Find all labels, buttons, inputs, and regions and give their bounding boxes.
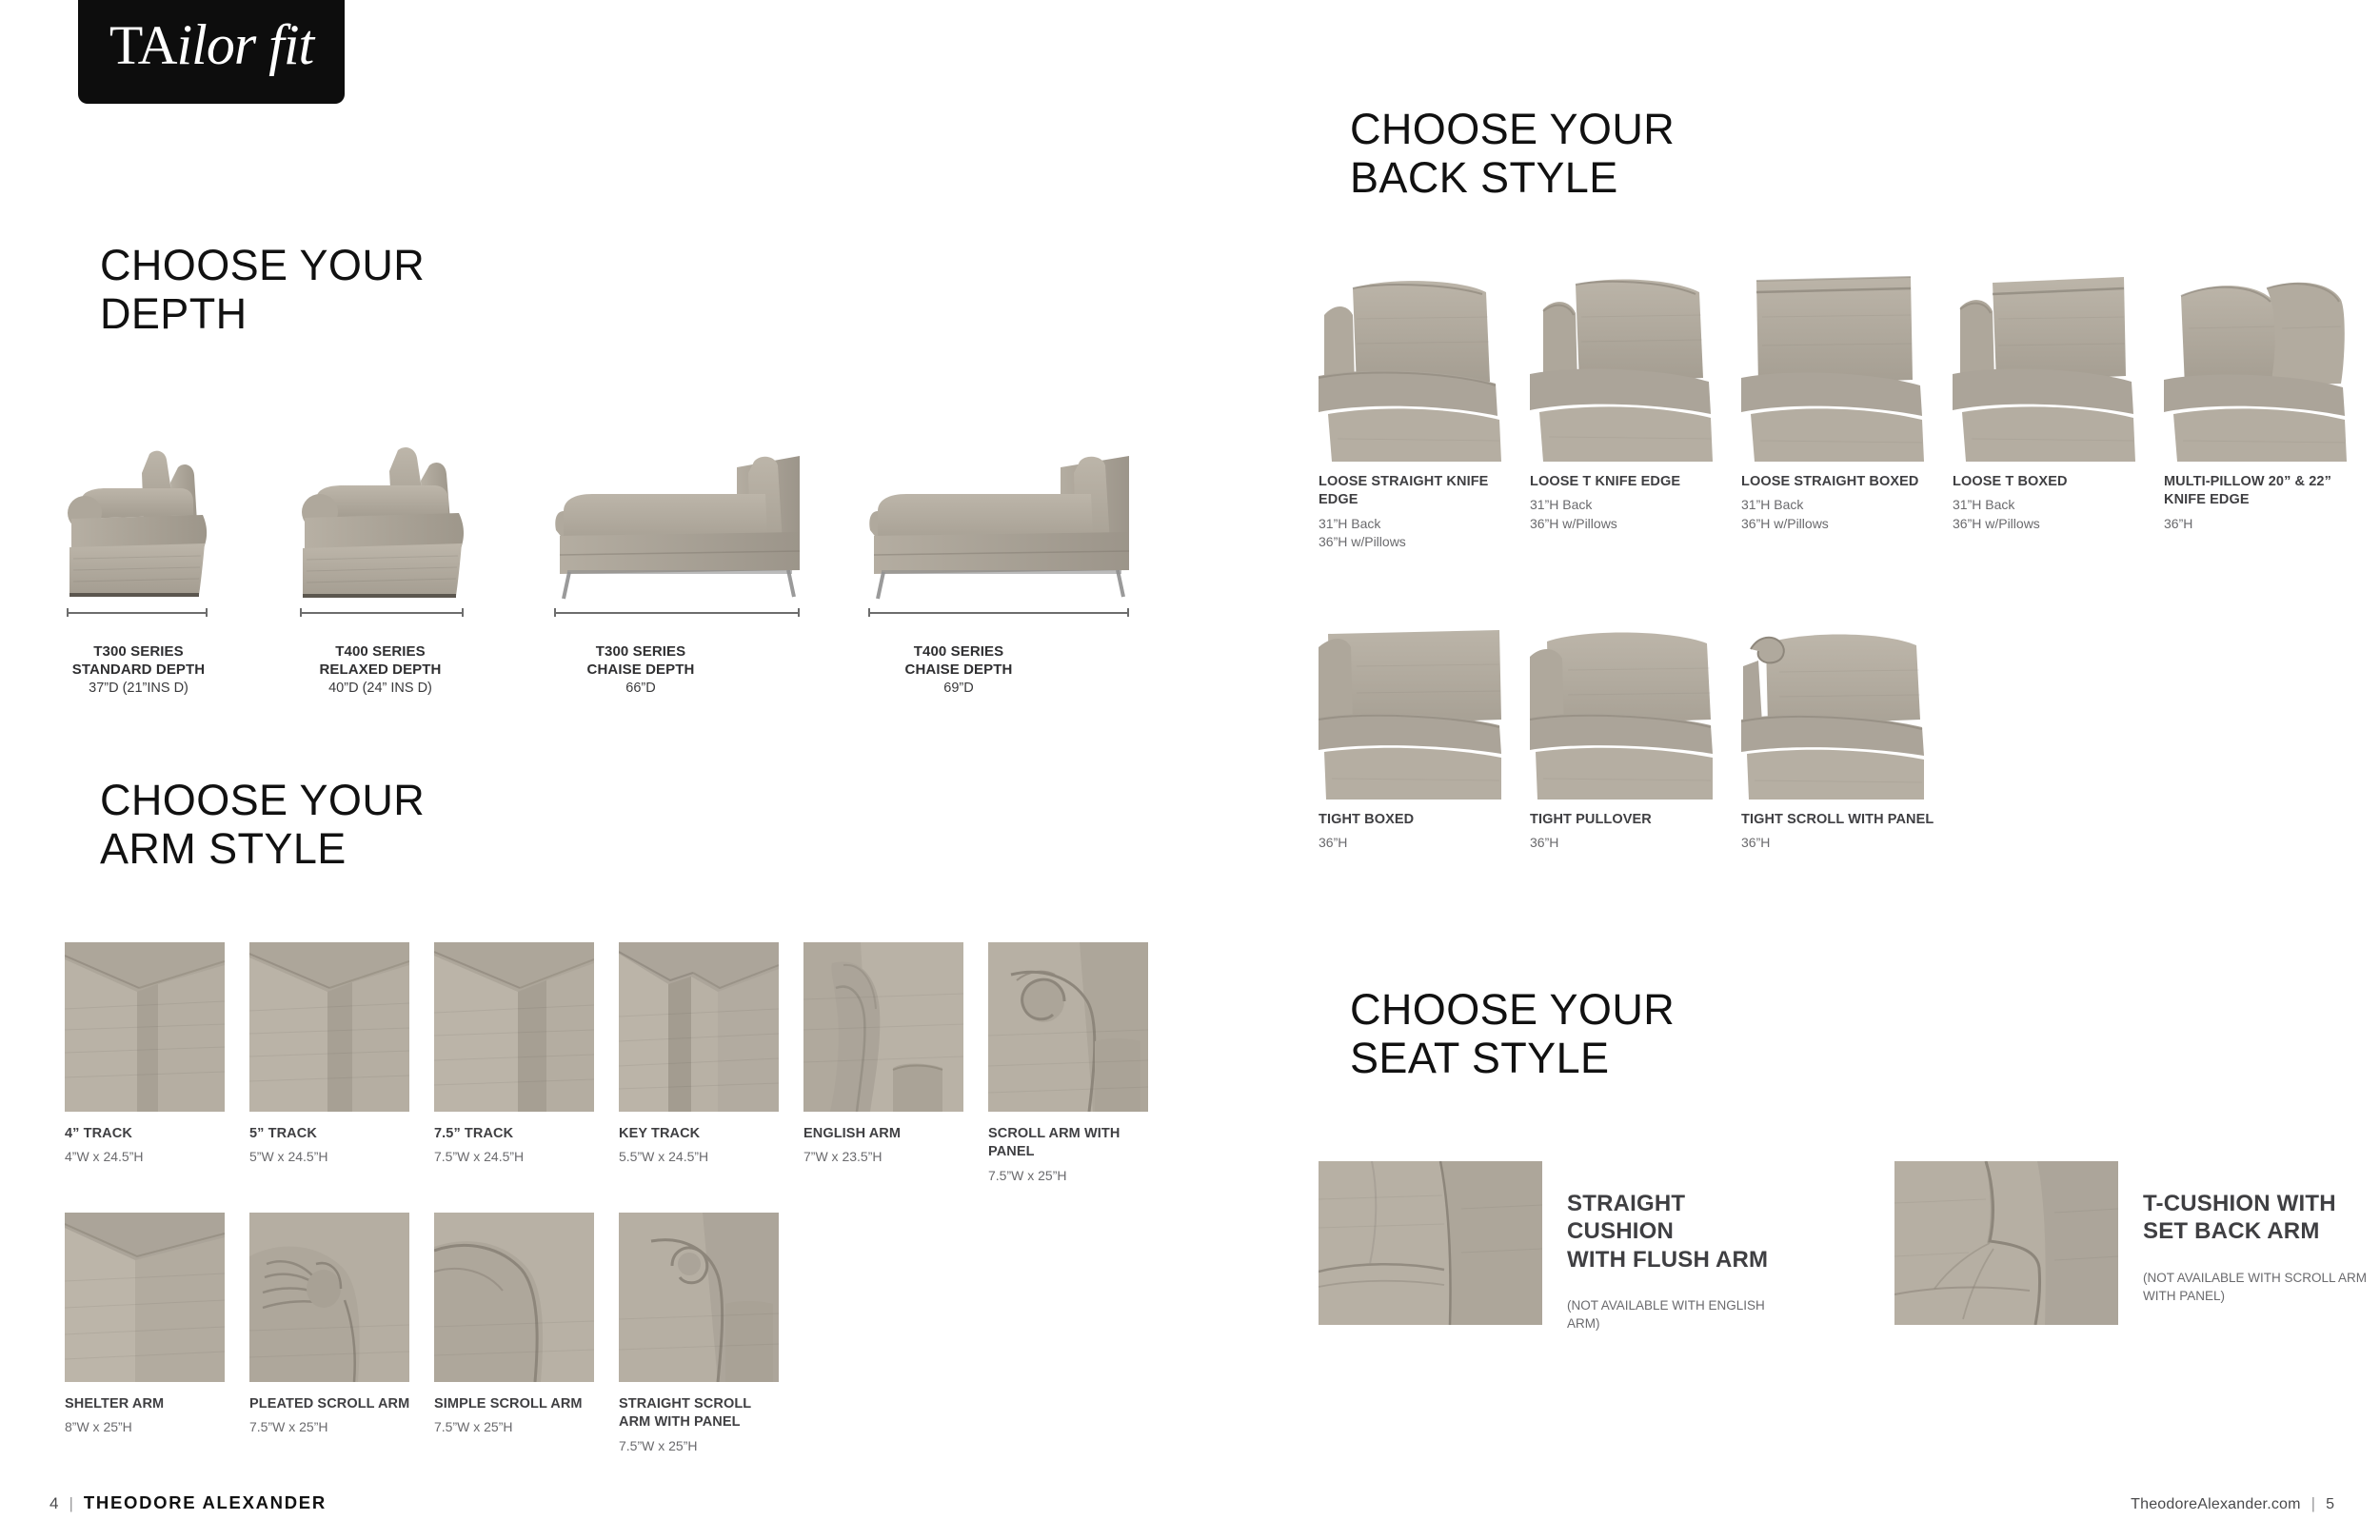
back-name: TIGHT PULLOVER (1530, 811, 1725, 829)
logo-text: TAilor fit (109, 16, 313, 73)
back-caption: LOOSE STRAIGHT KNIFE EDGE 31”H Back 36”H… (1319, 473, 1514, 552)
arm-dimension: 5”W x 24.5”H (249, 1148, 416, 1167)
arm-swatch-image (249, 1213, 409, 1382)
arm-caption: SHELTER ARM 8”W x 25”H (65, 1395, 231, 1437)
arm-caption: 5” TRACK 5”W x 24.5”H (249, 1125, 416, 1167)
arm-swatch-image (988, 942, 1148, 1112)
arm-name: 4” TRACK (65, 1125, 231, 1143)
arm-swatch-image (65, 942, 225, 1112)
logo-ilorfit: ilor fit (176, 13, 313, 76)
seat-swatch-image (1894, 1161, 2118, 1325)
back-swatch-image (1319, 628, 1501, 800)
footer-right: TheodoreAlexander.com | 5 (2131, 1494, 2334, 1513)
arm-caption: 4” TRACK 4”W x 24.5”H (65, 1125, 231, 1167)
section-heading-back: CHOOSE YOUR BACK STYLE (1319, 105, 1675, 227)
back-name: TIGHT SCROLL WITH PANEL (1741, 811, 1936, 829)
arm-caption: ENGLISH ARM 7”W x 23.5”H (803, 1125, 970, 1167)
arm-name: KEY TRACK (619, 1125, 785, 1143)
website-url[interactable]: TheodoreAlexander.com (2131, 1496, 2301, 1513)
depth-caption-t300-chaise: T300 SERIES CHAISE DEPTH 66”D (550, 642, 731, 696)
back-name: LOOSE T BOXED (1953, 473, 2148, 491)
back-dimension: 31”H Back 36”H w/Pillows (1319, 515, 1514, 553)
back-dimension: 31”H Back 36”H w/Pillows (1953, 496, 2148, 534)
arm-name: SHELTER ARM (65, 1395, 231, 1413)
back-swatch-image (1741, 271, 1924, 462)
section-title-seat: CHOOSE YOUR SEAT STYLE (1350, 985, 1675, 1083)
back-dimension: 31”H Back 36”H w/Pillows (1530, 496, 1725, 534)
seat-item-t-cushion-set-back-arm[interactable]: T-CUSHION WITH SET BACK ARM (NOT AVAILAB… (1894, 1161, 2370, 1325)
depth-measure-rule (868, 608, 1129, 617)
section-title-depth: CHOOSE YOUR DEPTH (100, 241, 425, 339)
depth-item-t300-chaise[interactable] (550, 419, 836, 638)
arm-dimension: 7”W x 23.5”H (803, 1148, 970, 1167)
arm-caption: 7.5” TRACK 7.5”W x 24.5”H (434, 1125, 601, 1167)
depth-caption-t400-relaxed: T400 SERIES RELAXED DEPTH 40”D (24” INS … (297, 642, 464, 696)
back-name: LOOSE T KNIFE EDGE (1530, 473, 1725, 491)
back-dimension: 36”H (2164, 515, 2359, 534)
arm-caption: PLEATED SCROLL ARM 7.5”W x 25”H (249, 1395, 416, 1437)
back-caption: MULTI-PILLOW 20” & 22” KNIFE EDGE 36”H (2164, 473, 2359, 533)
seat-note: (NOT AVAILABLE WITH ENGLISH ARM) (1567, 1296, 1795, 1333)
depth-dimension: 40”D (24” INS D) (297, 681, 464, 696)
depth-item-t400-chaise[interactable] (864, 419, 1169, 638)
seat-name: T-CUSHION WITH SET BACK ARM (2143, 1190, 2367, 1246)
arm-caption: STRAIGHT SCROLL ARM WITH PANEL 7.5”W x 2… (619, 1395, 785, 1455)
back-caption: TIGHT SCROLL WITH PANEL 36”H (1741, 811, 1936, 853)
depth-measure-rule (300, 608, 464, 617)
depth-name: T400 SERIES CHAISE DEPTH (868, 642, 1049, 679)
arm-swatch-image (434, 942, 594, 1112)
arm-swatch-image (434, 1213, 594, 1382)
arm-name: 5” TRACK (249, 1125, 416, 1143)
back-caption: LOOSE T KNIFE EDGE 31”H Back 36”H w/Pill… (1530, 473, 1725, 534)
arm-caption: SCROLL ARM WITH PANEL 7.5”W x 25”H (988, 1125, 1155, 1185)
section-heading-depth: CHOOSE YOUR DEPTH (69, 241, 425, 363)
seat-swatch-image (1319, 1161, 1542, 1325)
footer-left: 4 | THEODORE ALEXANDER (50, 1492, 327, 1513)
arm-dimension: 4”W x 24.5”H (65, 1148, 231, 1167)
arm-dimension: 5.5”W x 24.5”H (619, 1148, 785, 1167)
footer-divider: | (2311, 1494, 2315, 1513)
arm-caption: SIMPLE SCROLL ARM 7.5”W x 25”H (434, 1395, 601, 1437)
tailor-fit-logo: TAilor fit (78, 0, 345, 104)
depth-dimension: 69”D (868, 681, 1049, 696)
arm-dimension: 7.5”W x 25”H (988, 1167, 1155, 1186)
back-swatch-image (1741, 628, 1924, 800)
chaise-profile-image (550, 441, 836, 607)
depth-measure-rule (67, 608, 208, 617)
arm-swatch-image (619, 1213, 779, 1382)
back-swatch-image (1953, 271, 2135, 462)
arm-name: STRAIGHT SCROLL ARM WITH PANEL (619, 1395, 785, 1432)
arm-swatch-image (803, 942, 963, 1112)
chair-profile-image (60, 441, 265, 607)
arm-name: 7.5” TRACK (434, 1125, 601, 1143)
depth-measure-rule (554, 608, 800, 617)
arm-dimension: 7.5”W x 25”H (249, 1418, 416, 1437)
back-swatch-image (1530, 271, 1713, 462)
depth-item-t400-relaxed[interactable] (298, 419, 517, 638)
seat-caption: T-CUSHION WITH SET BACK ARM (NOT AVAILAB… (2143, 1161, 2367, 1305)
arm-swatch-image (249, 942, 409, 1112)
seat-item-straight-cushion-flush-arm[interactable]: STRAIGHT CUSHION WITH FLUSH ARM (NOT AVA… (1319, 1161, 1795, 1333)
chaise-profile-image (864, 441, 1169, 607)
back-caption: LOOSE STRAIGHT BOXED 31”H Back 36”H w/Pi… (1741, 473, 1936, 534)
back-dimension: 36”H (1530, 834, 1725, 853)
back-name: LOOSE STRAIGHT BOXED (1741, 473, 1936, 491)
depth-name: T300 SERIES CHAISE DEPTH (550, 642, 731, 679)
depth-dimension: 66”D (550, 681, 731, 696)
back-name: MULTI-PILLOW 20” & 22” KNIFE EDGE (2164, 473, 2359, 510)
arm-dimension: 8”W x 25”H (65, 1418, 231, 1437)
back-swatch-image (1319, 271, 1501, 462)
back-dimension: 31”H Back 36”H w/Pillows (1741, 496, 1936, 534)
back-caption: TIGHT BOXED 36”H (1319, 811, 1514, 853)
arm-name: ENGLISH ARM (803, 1125, 970, 1143)
depth-caption-t400-chaise: T400 SERIES CHAISE DEPTH 69”D (868, 642, 1049, 696)
section-title-arm: CHOOSE YOUR ARM STYLE (100, 776, 425, 874)
seat-options-row: STRAIGHT CUSHION WITH FLUSH ARM (NOT AVA… (1319, 1161, 2347, 1342)
page-number-right: 5 (2326, 1496, 2334, 1513)
depth-name: T400 SERIES RELAXED DEPTH (297, 642, 464, 679)
back-name: LOOSE STRAIGHT KNIFE EDGE (1319, 473, 1514, 510)
arm-swatch-image (619, 942, 779, 1112)
page-number-left: 4 (50, 1494, 58, 1513)
arm-swatch-image (65, 1213, 225, 1382)
depth-name: T300 SERIES STANDARD DEPTH (65, 642, 212, 679)
section-heading-arm: CHOOSE YOUR ARM STYLE (69, 776, 425, 898)
section-title-back: CHOOSE YOUR BACK STYLE (1350, 105, 1675, 203)
back-swatch-image (2164, 271, 2347, 462)
arm-caption: KEY TRACK 5.5”W x 24.5”H (619, 1125, 785, 1167)
seat-note: (NOT AVAILABLE WITH SCROLL ARM WITH PANE… (2143, 1269, 2367, 1305)
arm-name: PLEATED SCROLL ARM (249, 1395, 416, 1413)
section-heading-seat: CHOOSE YOUR SEAT STYLE (1319, 985, 1675, 1107)
depth-item-t300-standard[interactable] (65, 419, 269, 638)
arm-dimension: 7.5”W x 24.5”H (434, 1148, 601, 1167)
back-name: TIGHT BOXED (1319, 811, 1514, 829)
arm-dimension: 7.5”W x 25”H (434, 1418, 601, 1437)
depth-options-row (65, 419, 1140, 638)
footer-divider: | (69, 1494, 72, 1513)
arm-name: SIMPLE SCROLL ARM (434, 1395, 601, 1413)
seat-name: STRAIGHT CUSHION WITH FLUSH ARM (1567, 1190, 1795, 1273)
back-caption: LOOSE T BOXED 31”H Back 36”H w/Pillows (1953, 473, 2148, 534)
back-dimension: 36”H (1319, 834, 1514, 853)
brand-name: THEODORE ALEXANDER (84, 1492, 327, 1513)
depth-caption-t300-standard: T300 SERIES STANDARD DEPTH 37”D (21”INS … (65, 642, 212, 696)
seat-caption: STRAIGHT CUSHION WITH FLUSH ARM (NOT AVA… (1567, 1161, 1795, 1333)
arm-name: SCROLL ARM WITH PANEL (988, 1125, 1155, 1162)
chair-profile-image (293, 441, 512, 607)
logo-ta: TA (109, 14, 177, 76)
depth-dimension: 37”D (21”INS D) (65, 681, 212, 696)
back-caption: TIGHT PULLOVER 36”H (1530, 811, 1725, 853)
arm-dimension: 7.5”W x 25”H (619, 1437, 785, 1456)
back-swatch-image (1530, 628, 1713, 800)
back-dimension: 36”H (1741, 834, 1936, 853)
